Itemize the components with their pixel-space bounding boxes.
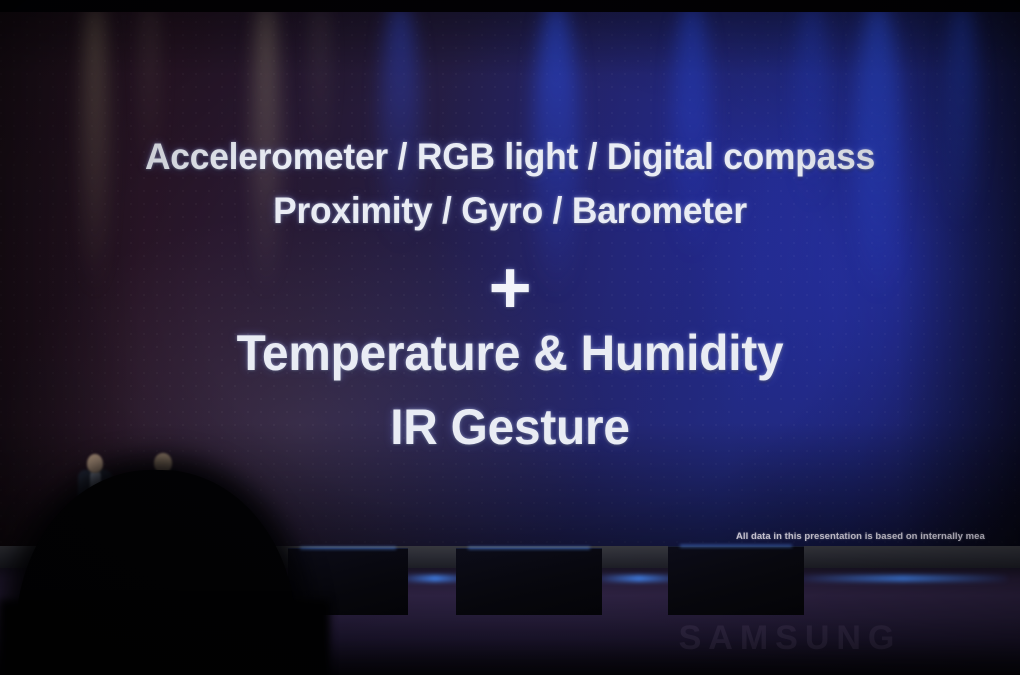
accent-strip-2 — [798, 575, 1008, 582]
panel-left-edge-glow — [300, 547, 396, 549]
ceiling-band — [0, 0, 1020, 12]
panel-center-edge-glow — [468, 547, 590, 549]
panel-right-edge-glow — [680, 545, 792, 547]
panel-right — [668, 546, 804, 615]
keynote-stage-photo: Accelerometer / RGB light / Digital comp… — [0, 0, 1020, 675]
panel-center — [456, 548, 602, 615]
presenter-left-head — [87, 454, 103, 473]
audience-silhouette-base — [0, 600, 330, 675]
